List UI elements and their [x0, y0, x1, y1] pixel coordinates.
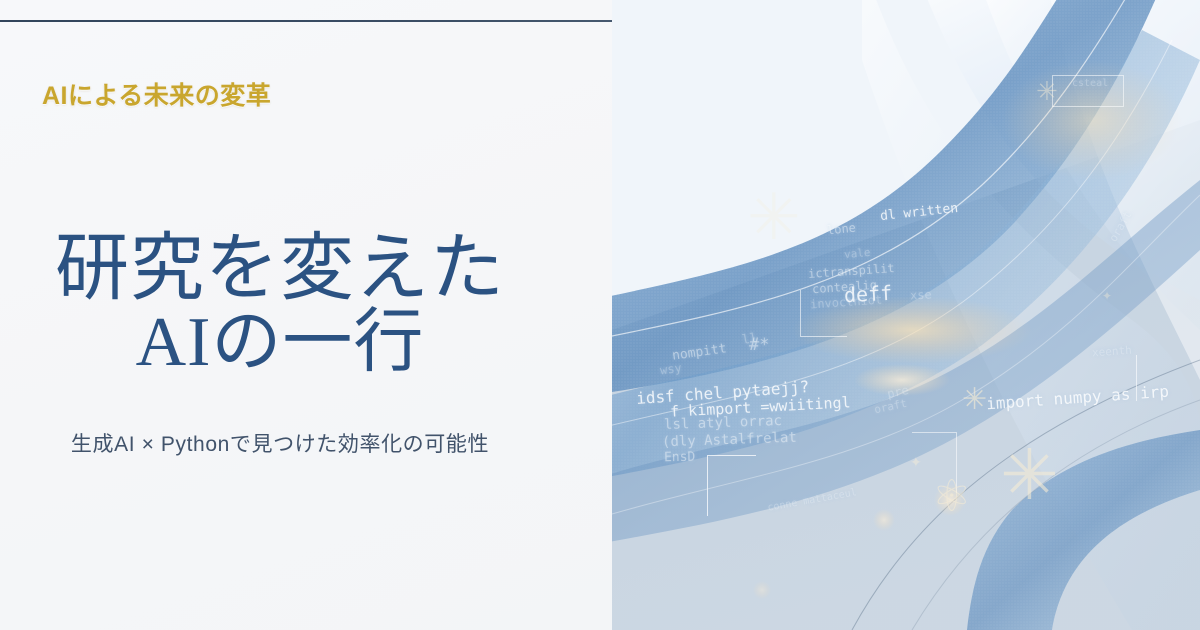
top-divider-rule [0, 20, 612, 22]
social-card-canvas: AIによる未来の変革 研究を変えた AIの一行 生成AI × Pythonで見つ… [0, 0, 1200, 630]
left-text-panel: AIによる未来の変革 研究を変えた AIの一行 生成AI × Pythonで見つ… [0, 0, 612, 630]
abstract-wave-illustration [612, 0, 1200, 630]
eyebrow-label: AIによる未来の変革 [42, 76, 271, 112]
page-title: 研究を変えた AIの一行 [0, 232, 560, 378]
page-title-line-2: AIの一行 [0, 308, 560, 378]
decorative-artwork-panel: dl writtenlonevaleictranspilitcontealigi… [612, 0, 1200, 630]
subtitle-text: 生成AI × Pythonで見つけた効率化の可能性 [0, 428, 560, 458]
page-title-line-1: 研究を変えた [0, 232, 560, 306]
